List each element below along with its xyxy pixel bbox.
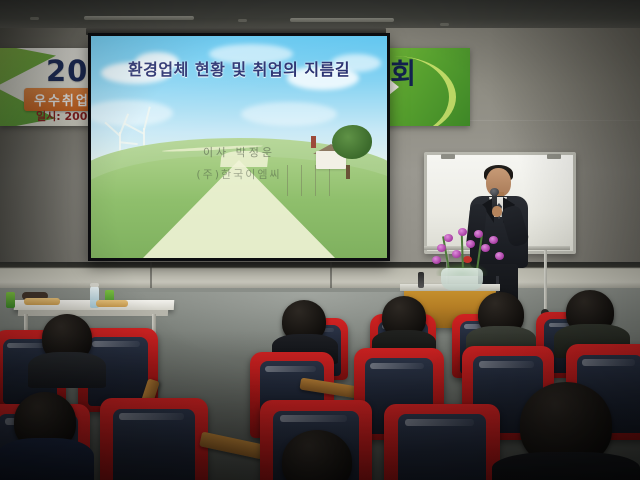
audience-shoulders [0,438,94,480]
seat-highlight [405,419,475,426]
green-bottle [6,292,15,308]
ceiling-vent [30,17,39,20]
orchid-bloom [495,252,504,260]
seat-highlight [582,359,635,366]
orchid-bloom [474,230,483,238]
audience-shoulders [28,352,106,388]
orchid-bloom [458,228,467,236]
orchid-bloom [437,244,446,252]
baseboard-seam [150,262,152,290]
microphone-head-icon [490,188,499,196]
flower-vase [441,268,483,290]
seat-highlight [119,413,184,420]
seat-highlight [265,366,315,372]
projection-screen: 환경업체 현황 및 취업의 지름길 이사 박정운 (주)한국이엠씨 [88,33,390,261]
orchid-bloom [444,234,453,242]
slide-presenter-line: 이사 박정운 [91,144,387,160]
flower-red-accent [463,256,472,263]
seat-highlight [370,363,424,369]
orchid-bloom [489,236,498,244]
orchid-bloom [466,240,475,248]
podium-bottle [418,272,424,288]
table-apron [18,310,168,316]
audience-shoulders [492,452,640,480]
seat-highlight [479,361,534,368]
baseboard-seam [330,262,332,290]
whiteboard-stand-leg [544,250,547,312]
ceiling-light-fixture [84,16,194,20]
whiteboard-clip [547,154,561,159]
orchid-bloom [481,244,490,252]
ceiling-vent [440,23,449,26]
snack-tray [24,298,60,305]
orchid-bloom [452,250,461,258]
seat-highlight [280,415,347,422]
seat[interactable] [100,398,208,480]
slide-company-line: (주)한국이엠씨 [91,166,387,182]
orchid-bloom [432,256,441,264]
snack-tray [96,300,128,307]
presenter-hand [492,206,502,217]
water-bottle-cap [90,283,99,287]
ceiling-vent [238,19,247,22]
seat-highlight [92,341,140,347]
slide-title: 환경업체 현황 및 취업의 지름길 [91,56,387,80]
ceiling-light-fixture [290,18,394,22]
slide-cloud [241,102,337,126]
whiteboard-clip [441,154,455,159]
lecture-hall-photo: 200 수회 우수취업 강전략토론 일시: 2009. 학교 환경공학과 [0,0,640,480]
seat[interactable] [384,404,500,480]
